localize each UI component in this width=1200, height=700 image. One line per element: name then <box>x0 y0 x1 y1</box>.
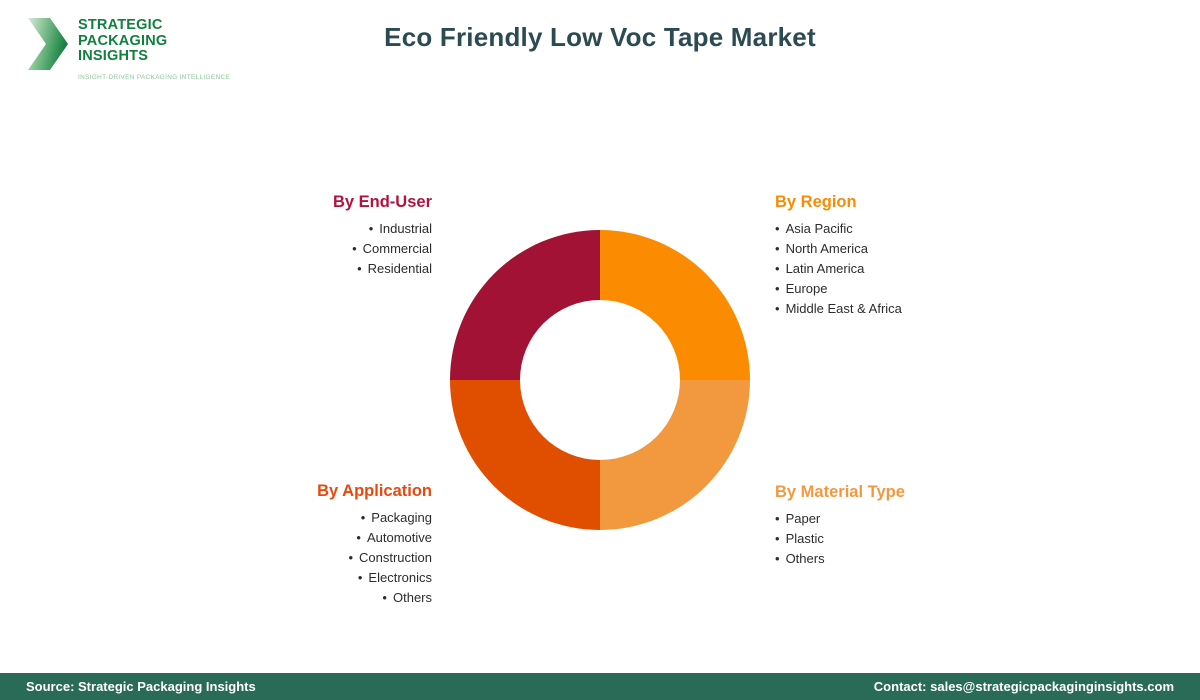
footer-contact[interactable]: Contact: sales@strategicpackaginginsight… <box>874 679 1174 694</box>
list-item: Europe <box>775 279 1075 299</box>
segment-list-material-type: Paper Plastic Others <box>775 509 1075 569</box>
page-title: Eco Friendly Low Voc Tape Market <box>0 22 1200 53</box>
list-item: Others <box>140 588 432 608</box>
list-item: North America <box>775 239 1075 259</box>
list-item: Residential <box>170 259 432 279</box>
list-item: Others <box>775 549 1075 569</box>
list-item: Industrial <box>170 219 432 239</box>
segment-list-application: Packaging Automotive Construction Electr… <box>140 508 432 608</box>
segment-list-end-user: Industrial Commercial Residential <box>170 219 432 279</box>
list-item: Automotive <box>140 528 432 548</box>
segment-block-end-user: By End-User Industrial Commercial Reside… <box>170 193 432 279</box>
logo-tagline: INSIGHT-DRIVEN PACKAGING INTELLIGENCE <box>78 74 230 81</box>
footer-bar: Source: Strategic Packaging Insights Con… <box>0 673 1200 700</box>
segment-block-application: By Application Packaging Automotive Cons… <box>140 482 432 608</box>
list-item: Commercial <box>170 239 432 259</box>
list-item: Asia Pacific <box>775 219 1075 239</box>
segment-title-end-user: By End-User <box>170 193 432 212</box>
donut-chart-svg <box>450 230 750 530</box>
segment-block-material-type: By Material Type Paper Plastic Others <box>775 483 1075 569</box>
segment-block-region: By Region Asia Pacific North America Lat… <box>775 193 1075 319</box>
footer-source: Source: Strategic Packaging Insights <box>26 679 256 694</box>
segment-title-material-type: By Material Type <box>775 483 1075 502</box>
list-item: Packaging <box>140 508 432 528</box>
list-item: Construction <box>140 548 432 568</box>
list-item: Middle East & Africa <box>775 299 1075 319</box>
segment-list-region: Asia Pacific North America Latin America… <box>775 219 1075 319</box>
segment-title-region: By Region <box>775 193 1075 212</box>
donut-hole <box>520 300 680 460</box>
segment-title-application: By Application <box>140 482 432 501</box>
donut-chart <box>450 230 750 530</box>
list-item: Latin America <box>775 259 1075 279</box>
list-item: Paper <box>775 509 1075 529</box>
infographic-page: STRATEGIC PACKAGING INSIGHTS INSIGHT-DRI… <box>0 0 1200 700</box>
list-item: Plastic <box>775 529 1075 549</box>
list-item: Electronics <box>140 568 432 588</box>
